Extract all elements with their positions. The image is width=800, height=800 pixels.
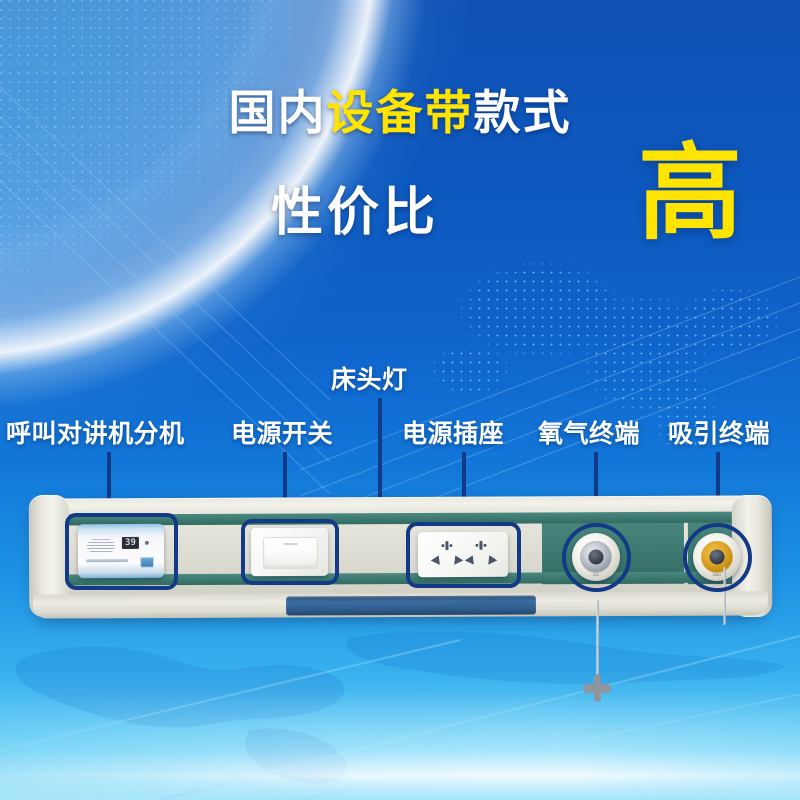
highlight-box-power-socket: [406, 522, 521, 588]
highlight-circle-suction: [683, 523, 752, 592]
highlight-box-intercom: [65, 513, 178, 590]
callout-label-power-socket: 电源插座: [402, 414, 504, 450]
highlight-circle-oxygen: [562, 523, 631, 592]
highlight-box-power-switch: [241, 519, 339, 585]
callout-label-suction: 吸引终端: [668, 414, 770, 450]
callout-label-intercom: 呼叫对讲机分机: [6, 414, 185, 450]
callout-layer: 呼叫对讲机分机 电源开关 床头灯 电源插座 氧气终端 吸引终端: [0, 0, 800, 800]
bedside-lamp-lens[interactable]: [286, 595, 536, 615]
callout-label-bedside-lamp: 床头灯: [331, 360, 408, 396]
oxygen-pull-cord[interactable]: [596, 600, 599, 678]
promo-banner: 国内设备带款式 性价比 高 呼叫对讲机分机 电源开关 床头灯 电源插座 氧气终端…: [0, 0, 800, 800]
pull-cord-handle-horizontal: [583, 684, 611, 693]
pull-cord-handle[interactable]: [583, 674, 611, 702]
callout-label-oxygen: 氧气终端: [538, 414, 640, 450]
callout-label-power-switch: 电源开关: [231, 414, 333, 450]
